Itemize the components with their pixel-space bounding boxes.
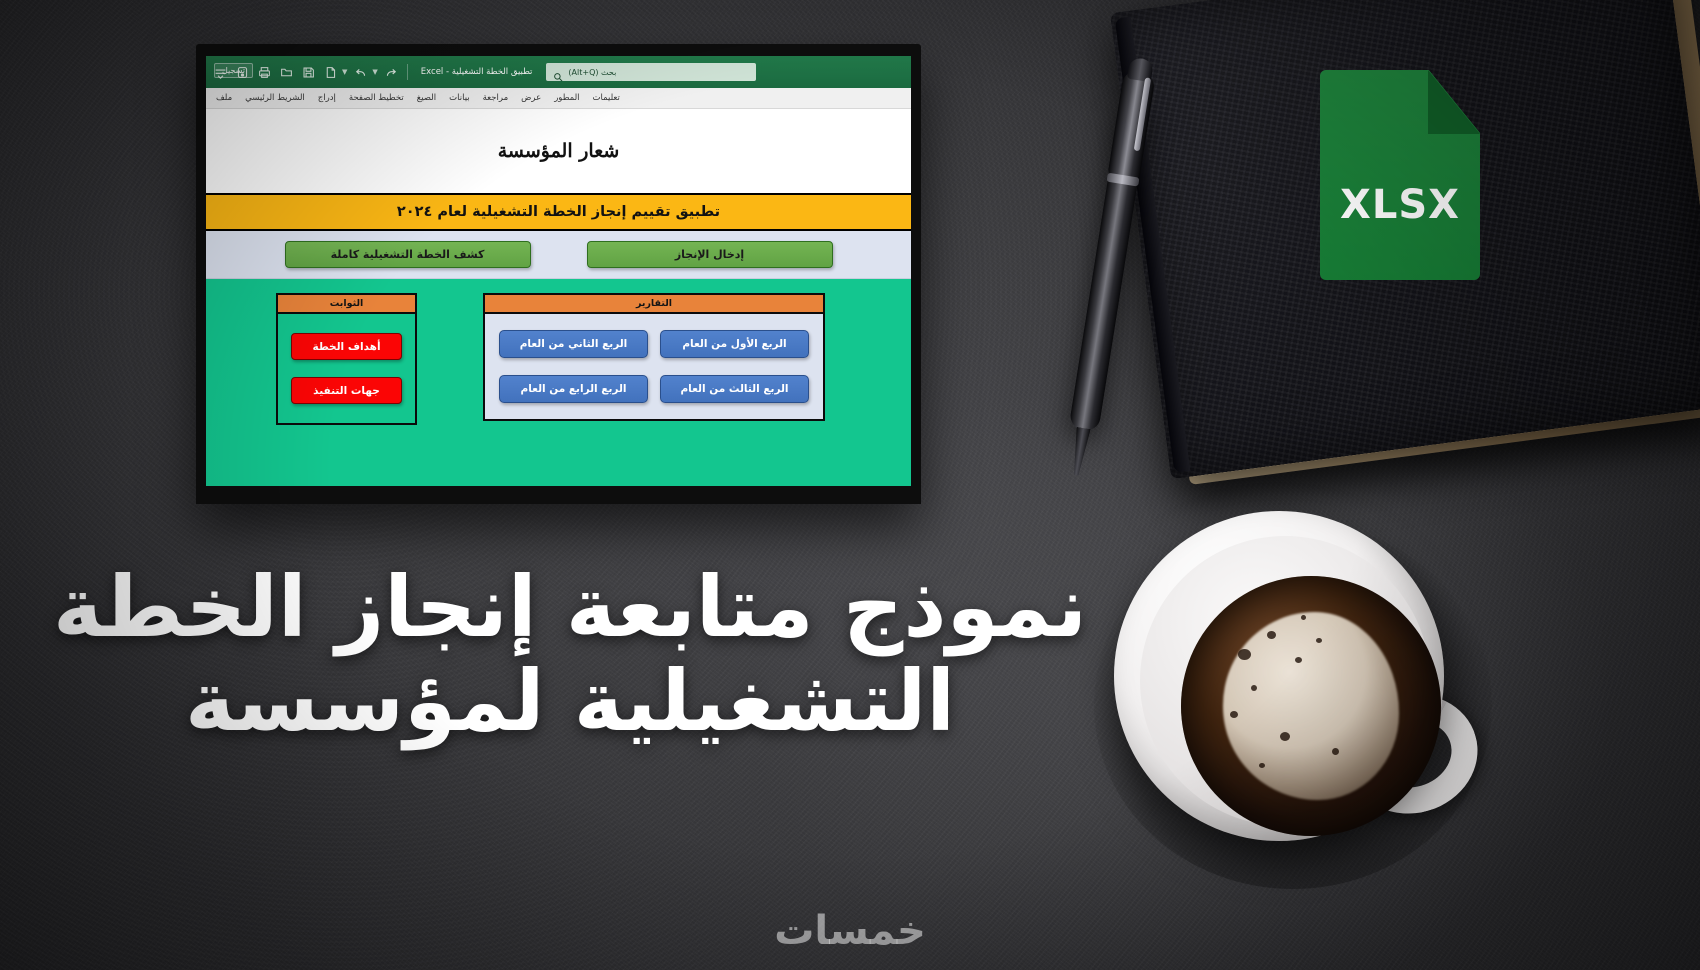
- full-plan-report-button[interactable]: كشف الخطة التشغيلية كاملة: [285, 241, 531, 268]
- constants-card-body: أهداف الخطة جهات التنفيذ: [278, 314, 415, 423]
- reports-card-body: الربع الأول من العام الربع الثاني من الع…: [485, 314, 823, 419]
- quarter-1-report-button[interactable]: الربع الأول من العام: [660, 330, 809, 358]
- ribbon-tab-bar[interactable]: ملف الشريط الرئيسي إدراج تخطيط الصفحة ال…: [206, 88, 911, 109]
- coffee-bubble: [1238, 649, 1251, 660]
- tab-review[interactable]: مراجعة: [483, 88, 509, 109]
- monitor-bottom-bezel: [196, 486, 921, 504]
- coffee-bubble: [1295, 657, 1302, 663]
- quarter-4-report-button[interactable]: الربع الرابع من العام: [499, 375, 648, 403]
- coffee-bubble: [1301, 615, 1306, 620]
- coffee-bubble: [1332, 748, 1339, 755]
- quarter-2-report-button[interactable]: الربع الثاني من العام: [499, 330, 648, 358]
- coffee-crema: [1223, 612, 1400, 799]
- app-title-text: تطبيق تقييم إنجاز الخطة التشغيلية لعام ٢…: [397, 204, 720, 220]
- search-input[interactable]: بحث (Alt+Q): [546, 63, 756, 81]
- primary-actions-band: كشف الخطة التشغيلية كاملة إدخال الإنجاز: [206, 231, 911, 279]
- cup-rim: [1140, 536, 1430, 826]
- open-folder-icon[interactable]: [278, 64, 295, 81]
- headline-text: نموذج متابعة إنجاز الخطة التشغيلية لمؤسس…: [40, 560, 1100, 748]
- redo-icon[interactable]: [383, 64, 400, 81]
- app-title-band: تطبيق تقييم إنجاز الخطة التشغيلية لعام ٢…: [206, 195, 911, 231]
- print-icon[interactable]: [256, 64, 273, 81]
- reports-card-header: التقارير: [485, 295, 823, 314]
- tab-insert[interactable]: إدراج: [318, 88, 336, 109]
- chevron-down-icon[interactable]: ▼: [342, 68, 347, 76]
- constants-card: الثوابت أهداف الخطة جهات التنفيذ: [276, 293, 417, 425]
- tab-home[interactable]: الشريط الرئيسي: [245, 88, 305, 109]
- scene-background: XLSX: [0, 0, 1700, 970]
- implementing-entities-button[interactable]: جهات التنفيذ: [291, 377, 402, 404]
- tab-file[interactable]: ملف: [216, 88, 232, 109]
- excel-window: تسجيل بحث (Alt+Q) تطبيق الخطة التشغيلية …: [206, 56, 911, 486]
- watermark-text: خمسات: [0, 908, 1700, 954]
- sign-in-button[interactable]: تسجيل: [214, 63, 253, 78]
- coffee-bubble: [1267, 631, 1276, 639]
- xlsx-file-icon: XLSX: [1320, 70, 1480, 280]
- quarter-3-report-button[interactable]: الربع الثالث من العام: [660, 375, 809, 403]
- xlsx-label: XLSX: [1320, 182, 1480, 228]
- coffee-surface: [1181, 576, 1441, 836]
- dashboard-panel: الثوابت أهداف الخطة جهات التنفيذ التقاري…: [206, 279, 911, 486]
- coffee-cup-prop: [1108, 505, 1478, 875]
- cup-body: [1114, 511, 1444, 841]
- xlsx-page-shape: [1320, 70, 1480, 280]
- organization-logo-band: شعار المؤسسة: [206, 109, 911, 195]
- chevron-down-icon[interactable]: ▼: [372, 68, 377, 76]
- tab-help[interactable]: تعليمات: [593, 88, 620, 109]
- constants-card-header: الثوابت: [278, 295, 415, 314]
- document-title: تطبيق الخطة التشغيلية - Excel: [413, 67, 541, 77]
- enter-achievement-button[interactable]: إدخال الإنجاز: [587, 241, 833, 268]
- pen-tip: [1069, 427, 1090, 477]
- search-icon: [553, 67, 563, 77]
- excel-title-bar: تسجيل بحث (Alt+Q) تطبيق الخطة التشغيلية …: [206, 56, 911, 88]
- tab-formulas[interactable]: الصيغ: [417, 88, 436, 109]
- search-placeholder: بحث (Alt+Q): [568, 68, 616, 77]
- undo-icon[interactable]: [352, 64, 369, 81]
- new-file-icon[interactable]: [322, 64, 339, 81]
- plan-goals-button[interactable]: أهداف الخطة: [291, 333, 402, 360]
- worksheet-area: شعار المؤسسة تطبيق تقييم إنجاز الخطة الت…: [206, 109, 911, 486]
- monitor-frame: تسجيل بحث (Alt+Q) تطبيق الخطة التشغيلية …: [196, 44, 921, 504]
- qat-divider: [407, 64, 408, 80]
- coffee-bubble: [1280, 732, 1290, 741]
- tab-data[interactable]: بيانات: [449, 88, 469, 109]
- save-icon[interactable]: [300, 64, 317, 81]
- reports-card: التقارير الربع الأول من العام الربع الثا…: [483, 293, 825, 421]
- tab-view[interactable]: عرض: [521, 88, 541, 109]
- tab-page-layout[interactable]: تخطيط الصفحة: [349, 88, 404, 109]
- tab-developer[interactable]: المطور: [554, 88, 579, 109]
- logo-placeholder-text: شعار المؤسسة: [498, 140, 620, 162]
